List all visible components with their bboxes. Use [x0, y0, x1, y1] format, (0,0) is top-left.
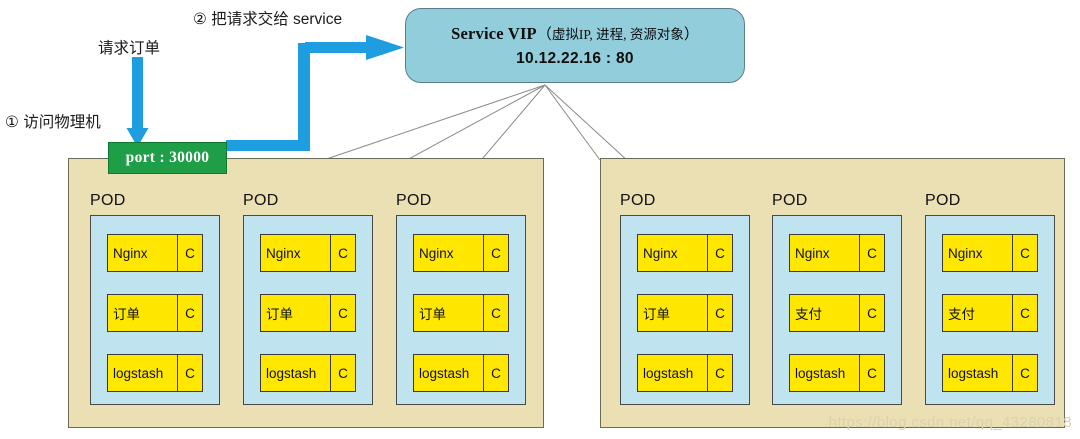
pod-box-3: Nginx C 订单 C logstash C [396, 215, 526, 405]
container-row: 支付 C [942, 294, 1038, 332]
container-name: logstash [943, 355, 1012, 391]
container-name: Nginx [638, 235, 707, 271]
container-row: Nginx C [107, 234, 203, 272]
container-c-cell: C [859, 235, 884, 271]
container-c-cell: C [1012, 355, 1037, 391]
container-row: 订单 C [107, 294, 203, 332]
pod-box-4: Nginx C 订单 C logstash C [620, 215, 750, 405]
node-port-badge: port : 30000 [108, 142, 227, 174]
pod-box-2: Nginx C 订单 C logstash C [243, 215, 373, 405]
container-name: 订单 [108, 295, 177, 331]
container-c-cell: C [707, 355, 732, 391]
watermark: https://blog.csdn.net/qq_43280818 [829, 414, 1072, 431]
container-row: Nginx C [789, 234, 885, 272]
service-vip-box: Service VIP（虚拟IP, 进程, 资源对象） 10.12.22.16 … [405, 8, 745, 83]
container-row: logstash C [789, 354, 885, 392]
node-port-label: port : 30000 [126, 149, 210, 167]
container-c-cell: C [177, 355, 202, 391]
container-row: Nginx C [942, 234, 1038, 272]
container-c-cell: C [707, 235, 732, 271]
container-row: 订单 C [260, 294, 356, 332]
container-name: logstash [261, 355, 330, 391]
container-c-cell: C [707, 295, 732, 331]
container-row: 支付 C [789, 294, 885, 332]
container-c-cell: C [859, 295, 884, 331]
pod-label-2: POD [243, 192, 279, 210]
container-c-cell: C [483, 355, 508, 391]
container-row: logstash C [260, 354, 356, 392]
service-vip-subtitle: 虚拟IP, 进程, 资源对象 [552, 27, 684, 42]
container-c-cell: C [1012, 295, 1037, 331]
service-vip-title-bold: Service VIP [451, 24, 537, 43]
container-name: logstash [790, 355, 859, 391]
container-row: 订单 C [413, 294, 509, 332]
pod-box-5: Nginx C 支付 C logstash C [772, 215, 902, 405]
annotation-step-1: ① 访问物理机 [5, 110, 101, 132]
container-name: 支付 [790, 295, 859, 331]
container-row: logstash C [637, 354, 733, 392]
container-name: logstash [414, 355, 483, 391]
annotation-step-2: ② 把请求交给 service [193, 7, 342, 29]
annotation-request-order: 请求订单 [98, 36, 160, 58]
container-name: logstash [108, 355, 177, 391]
container-name: Nginx [790, 235, 859, 271]
container-name: Nginx [414, 235, 483, 271]
pod-label-1: POD [90, 192, 126, 210]
container-name: 订单 [638, 295, 707, 331]
request-down-arrow [127, 57, 149, 147]
container-row: logstash C [107, 354, 203, 392]
diagram-canvas: Service VIP（虚拟IP, 进程, 资源对象） 10.12.22.16 … [0, 0, 1080, 439]
container-name: 支付 [943, 295, 1012, 331]
container-name: Nginx [108, 235, 177, 271]
container-row: 订单 C [637, 294, 733, 332]
container-c-cell: C [859, 355, 884, 391]
pod-label-6: POD [925, 192, 961, 210]
service-vip-paren-open: （ [537, 26, 552, 43]
container-row: Nginx C [413, 234, 509, 272]
pod-label-5: POD [772, 192, 808, 210]
container-c-cell: C [483, 295, 508, 331]
container-c-cell: C [1012, 235, 1037, 271]
container-name: logstash [638, 355, 707, 391]
container-name: 订单 [261, 295, 330, 331]
container-c-cell: C [483, 235, 508, 271]
port-to-service-arrow [226, 35, 404, 151]
container-row: logstash C [942, 354, 1038, 392]
container-c-cell: C [330, 355, 355, 391]
container-name: Nginx [261, 235, 330, 271]
pod-box-6: Nginx C 支付 C logstash C [925, 215, 1055, 405]
container-c-cell: C [177, 235, 202, 271]
pod-box-1: Nginx C 订单 C logstash C [90, 215, 220, 405]
container-row: logstash C [413, 354, 509, 392]
pod-label-4: POD [620, 192, 656, 210]
container-row: Nginx C [637, 234, 733, 272]
container-c-cell: C [330, 295, 355, 331]
pod-label-3: POD [396, 192, 432, 210]
container-name: 订单 [414, 295, 483, 331]
service-vip-address: 10.12.22.16 : 80 [516, 50, 634, 68]
container-c-cell: C [330, 235, 355, 271]
service-vip-paren-close: ） [684, 26, 699, 43]
container-row: Nginx C [260, 234, 356, 272]
service-vip-title: Service VIP（虚拟IP, 进程, 资源对象） [451, 23, 699, 46]
container-name: Nginx [943, 235, 1012, 271]
container-c-cell: C [177, 295, 202, 331]
connector-pod-5 [545, 85, 600, 160]
